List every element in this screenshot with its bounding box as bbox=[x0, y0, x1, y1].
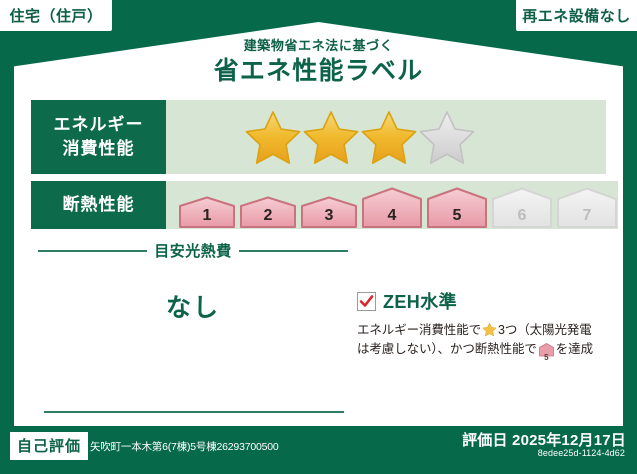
label-footer: 自己評価 矢吹町一本木第6(7棟)5号棟26293700500 評価日 2025… bbox=[0, 426, 637, 474]
header-subtitle: 建築物省エネ法に基づく bbox=[0, 38, 637, 54]
insulation-grade-scale: 1234567 bbox=[166, 181, 618, 229]
star-icon-empty bbox=[419, 109, 475, 165]
zeh-title: ZEH水準 bbox=[383, 288, 457, 314]
insulation-grade-1: 1 bbox=[178, 196, 236, 229]
energy-performance-label: エネルギー 消費性能 bbox=[31, 100, 166, 174]
insulation-performance-row: 断熱性能 1234567 bbox=[31, 181, 606, 229]
self-evaluation-badge: 自己評価 bbox=[10, 432, 88, 460]
cost-bottom-divider bbox=[44, 411, 344, 413]
insulation-grade-4: 4 bbox=[361, 187, 423, 229]
building-type-badge: 住宅（住戸） bbox=[0, 0, 112, 31]
star-rating bbox=[166, 109, 475, 165]
utility-cost-title: 目安光熱費 bbox=[154, 240, 232, 261]
zeh-section: ZEH水準 エネルギー消費性能で3つ（太陽光発電は考慮しない）、かつ断熱性能で5… bbox=[357, 288, 607, 363]
document-id: 8edee25d-1124-4d62 bbox=[538, 448, 625, 458]
insulation-grade-7: 7 bbox=[556, 187, 618, 229]
energy-label-line1: エネルギー bbox=[54, 113, 144, 137]
insulation-grade-number: 3 bbox=[300, 208, 358, 224]
zeh-header: ZEH水準 bbox=[357, 288, 607, 314]
zeh-desc-part1: エネルギー消費性能で bbox=[357, 323, 481, 337]
energy-label-card: 住宅（住戸） 再エネ設備なし 建築物省エネ法に基づく 省エネ性能ラベル エネルギ… bbox=[0, 0, 637, 474]
label-body-panel: エネルギー 消費性能 断熱性能 1234567 目安光熱費 なし bbox=[14, 88, 623, 426]
star-icon-filled bbox=[361, 109, 417, 165]
star-icon-filled bbox=[303, 109, 359, 165]
evaluation-date-value: 2025年12月17日 bbox=[512, 432, 626, 449]
zeh-desc-part4: を達成 bbox=[556, 342, 593, 356]
cost-rule-left bbox=[38, 250, 147, 252]
zeh-desc-part3: は考慮しない）、かつ断熱性能で bbox=[357, 342, 537, 356]
insulation-grade-2: 2 bbox=[239, 196, 297, 229]
insulation-badge-number: 5 bbox=[539, 354, 554, 362]
energy-label-line2: 消費性能 bbox=[63, 137, 135, 161]
renewable-equipment-badge: 再エネ設備なし bbox=[516, 0, 637, 31]
insulation-badge-inline: 5 bbox=[539, 343, 554, 363]
insulation-grade-number: 7 bbox=[556, 208, 618, 224]
star-icon-filled bbox=[245, 109, 301, 165]
zeh-description: エネルギー消費性能で3つ（太陽光発電は考慮しない）、かつ断熱性能で5を達成 bbox=[357, 321, 607, 363]
insulation-grade-number: 5 bbox=[426, 208, 488, 224]
insulation-grade-number: 2 bbox=[239, 208, 297, 224]
cost-rule-right bbox=[239, 250, 348, 252]
insulation-performance-label: 断熱性能 bbox=[31, 181, 166, 229]
insulation-grade-5: 5 bbox=[426, 187, 488, 229]
utility-cost-value: なし bbox=[38, 288, 348, 324]
energy-performance-row: エネルギー 消費性能 bbox=[31, 100, 606, 174]
evaluation-date-label: 評価日 bbox=[462, 432, 508, 449]
insulation-grade-number: 6 bbox=[491, 208, 553, 224]
insulation-grade-number: 1 bbox=[178, 208, 236, 224]
insulation-grade-3: 3 bbox=[300, 196, 358, 229]
insulation-performance-value: 1234567 bbox=[166, 181, 618, 229]
insulation-grade-6: 6 bbox=[491, 187, 553, 229]
zeh-desc-part2: 3つ（太陽光発電 bbox=[498, 323, 592, 337]
energy-performance-value bbox=[166, 100, 606, 174]
star-icon-inline bbox=[482, 322, 497, 337]
utility-cost-header: 目安光熱費 bbox=[38, 240, 348, 261]
zeh-checkbox[interactable] bbox=[357, 292, 376, 311]
evaluation-date: 評価日 2025年12月17日 bbox=[462, 429, 626, 450]
header-titles: 建築物省エネ法に基づく 省エネ性能ラベル bbox=[0, 38, 637, 87]
property-address: 矢吹町一本木第6(7棟)5号棟26293700500 bbox=[90, 439, 279, 454]
check-icon bbox=[359, 294, 374, 309]
insulation-grade-number: 4 bbox=[361, 208, 423, 224]
page-title: 省エネ性能ラベル bbox=[0, 55, 637, 87]
